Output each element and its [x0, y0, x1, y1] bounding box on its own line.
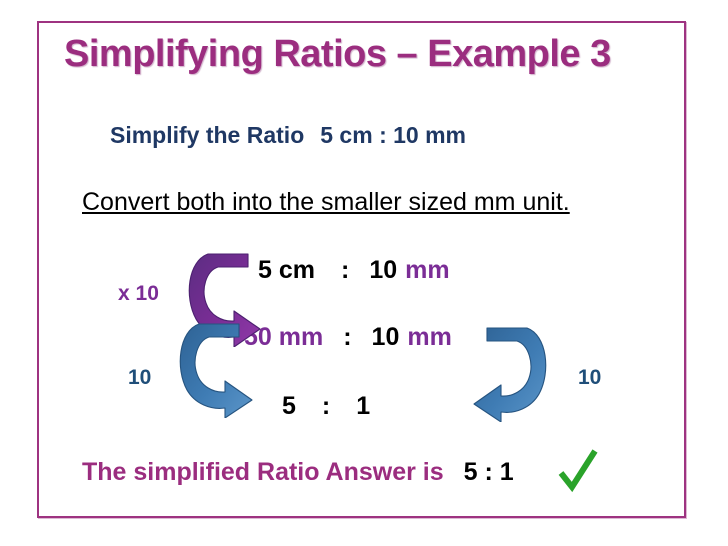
answer-value: 5 : 1: [464, 458, 514, 486]
problem-ratio-value: 5 cm : 10 mm: [320, 122, 466, 148]
working-row-3: 5:1: [282, 392, 370, 421]
divide-right-ten-label: 10: [578, 366, 601, 390]
answer-label: The simplified Ratio Answer is: [82, 458, 444, 486]
row2-right-number: 10: [372, 323, 400, 351]
curved-arrow-blue-left-icon: [176, 318, 256, 418]
divide-left-ten-label: 10: [128, 366, 151, 390]
page-title: Simplifying Ratios – Example 3: [64, 33, 611, 76]
problem-prompt-label: Simplify the Ratio: [110, 122, 304, 148]
row2-colon: :: [343, 323, 351, 351]
working-row-1: 5 cm:10mm: [258, 256, 450, 285]
multiply-by-ten-label: x 10: [118, 282, 159, 306]
row3-left-value: 5: [282, 392, 296, 420]
answer-line: The simplified Ratio Answer is5 : 1: [82, 458, 514, 487]
working-row-2: 50 mm:10mm: [244, 323, 452, 352]
row1-colon: :: [341, 256, 349, 284]
row2-right-unit: mm: [407, 323, 451, 351]
slide-canvas: Simplifying Ratios – Example 3 Simplify …: [0, 0, 728, 546]
instruction-text: Convert both into the smaller sized mm u…: [82, 188, 570, 217]
row3-colon: :: [322, 392, 330, 420]
row1-right-unit: mm: [405, 256, 449, 284]
row1-right-number: 10: [369, 256, 397, 284]
green-check-icon: [558, 449, 598, 493]
row3-right-value: 1: [356, 392, 370, 420]
curved-arrow-blue-right-icon: [470, 322, 550, 422]
problem-statement: Simplify the Ratio5 cm : 10 mm: [110, 122, 466, 149]
row1-left-value: 5 cm: [258, 256, 315, 284]
